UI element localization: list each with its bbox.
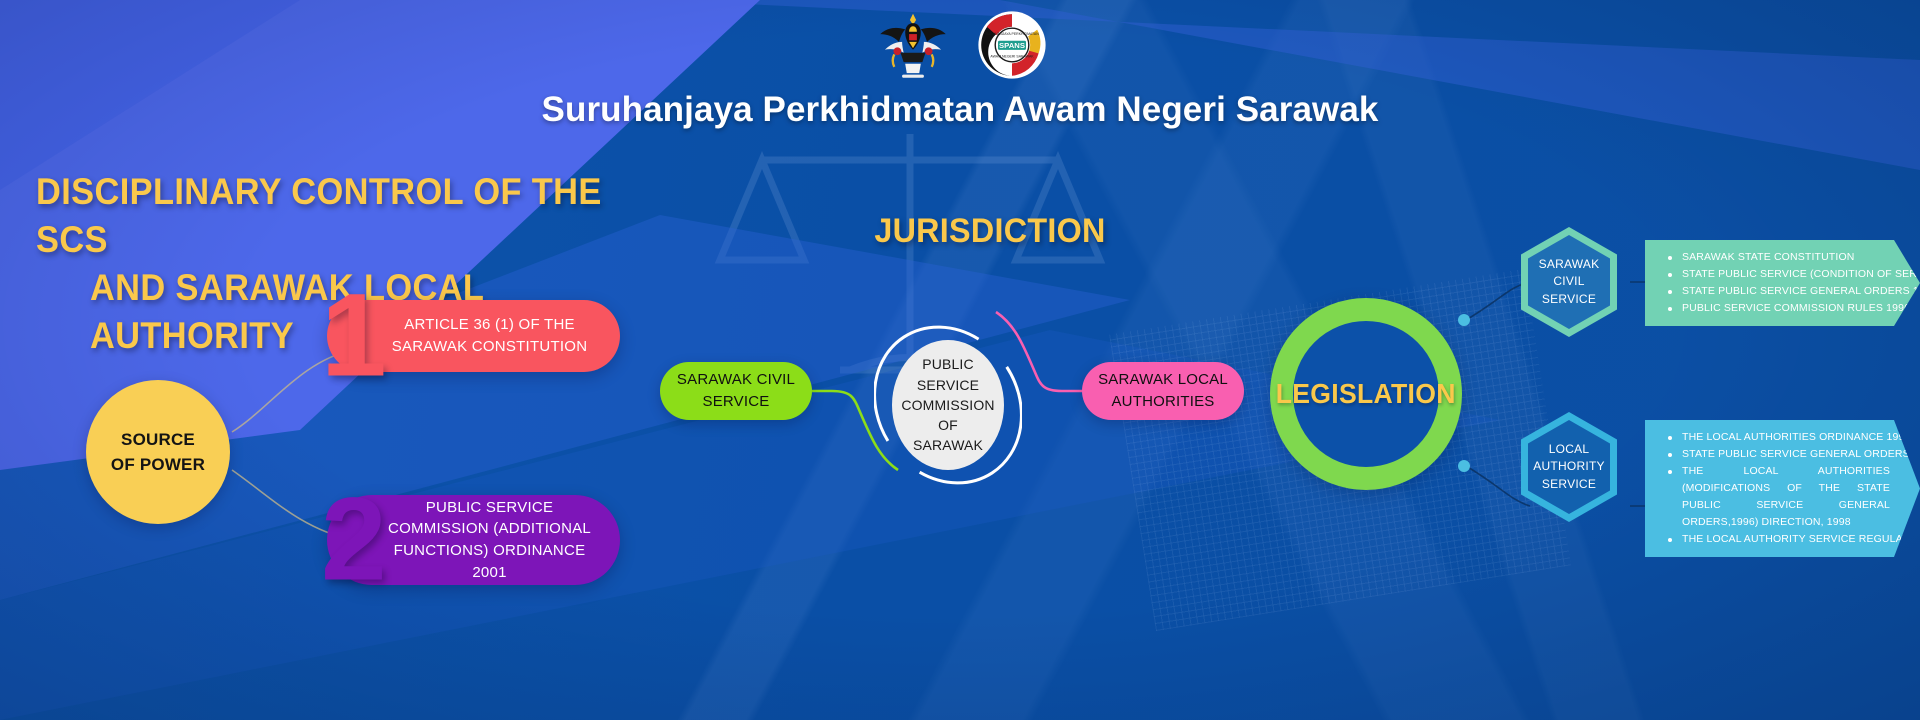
power-item-2-number: 2 (321, 492, 383, 589)
list-item: SARAWAK STATE CONSTITUTION (1667, 249, 1890, 266)
jurisdiction-node-civil-service[interactable]: SARAWAK CIVIL SERVICE (660, 362, 812, 420)
infographic-canvas: SPANS SURUHANJAYA PERKHIDMATAN AWAM NEGE… (0, 0, 1920, 720)
source-of-power-line1: SOURCE (121, 427, 195, 453)
section-heading-jurisdiction: JURISDICTION (848, 212, 1133, 251)
list-item: THE LOCAL AUTHORITY SERVICE REGULATIONS … (1667, 531, 1890, 548)
list-item: STATE PUBLIC SERVICE GENERAL ORDERS 1996 (1667, 446, 1890, 463)
page-header: SPANS SURUHANJAYA PERKHIDMATAN AWAM NEGE… (0, 0, 1920, 130)
legislation-list-local-authority: THE LOCAL AUTHORITIES ORDINANCE 1996 STA… (1645, 420, 1920, 557)
logo-group: SPANS SURUHANJAYA PERKHIDMATAN AWAM NEGE… (873, 6, 1047, 84)
list-item: PUBLIC SERVICE COMMISSION RULES 1996 (1667, 300, 1890, 317)
legislation-list-civil-service: SARAWAK STATE CONSTITUTION STATE PUBLIC … (1645, 240, 1920, 326)
core-label: PUBLIC SERVICE COMMISSION OF SARAWAK (892, 340, 1004, 470)
source-of-power-line2: OF POWER (111, 452, 205, 478)
local-authority-items: THE LOCAL AUTHORITIES ORDINANCE 1996 STA… (1667, 429, 1890, 548)
jurisdiction-node-civil-service-label: SARAWAK CIVIL SERVICE (660, 369, 812, 413)
power-item-1[interactable]: 1 ARTICLE 36 (1) OF THE SARAWAK CONSTITU… (327, 300, 620, 372)
jurisdiction-node-local-authorities-label: SARAWAK LOCAL AUTHORITIES (1082, 369, 1244, 413)
list-item: STATE PUBLIC SERVICE GENERAL ORDERS 1996 (1667, 283, 1890, 300)
legislation-node[interactable]: LEGISLATION (1270, 298, 1462, 490)
hex-local-authority-label: LOCAL AUTHORITY SERVICE (1528, 441, 1610, 492)
svg-text:SPANS: SPANS (999, 41, 1025, 50)
jurisdiction-node-local-authorities[interactable]: SARAWAK LOCAL AUTHORITIES (1082, 362, 1244, 420)
svg-text:SURUHANJAYA PERKHIDMATAN: SURUHANJAYA PERKHIDMATAN (985, 32, 1039, 36)
page-title: Suruhanjaya Perkhidmatan Awam Negeri Sar… (0, 90, 1920, 130)
hex-civil-service-label: SARAWAK CIVIL SERVICE (1528, 256, 1610, 307)
sarawak-coat-of-arms-icon (873, 6, 953, 84)
power-item-1-number: 1 (321, 288, 383, 385)
svg-text:AWAM NEGERI SARAWAK: AWAM NEGERI SARAWAK (990, 55, 1034, 59)
list-item: THE LOCAL AUTHORITIES (MODIFICATIONS OF … (1667, 463, 1890, 531)
source-of-power-node[interactable]: SOURCE OF POWER (86, 380, 230, 524)
spans-logo-icon: SPANS SURUHANJAYA PERKHIDMATAN AWAM NEGE… (977, 10, 1047, 80)
central-core-node[interactable]: PUBLIC SERVICE COMMISSION OF SARAWAK (874, 320, 1022, 490)
legislation-label: LEGISLATION (1276, 378, 1456, 410)
power-item-2[interactable]: 2 PUBLIC SERVICE COMMISSION (ADDITIONAL … (327, 495, 620, 585)
civil-service-items: SARAWAK STATE CONSTITUTION STATE PUBLIC … (1667, 249, 1890, 317)
list-item: THE LOCAL AUTHORITIES ORDINANCE 1996 (1667, 429, 1890, 446)
heading-line-1: DISCIPLINARY CONTROL OF THE SCS (36, 171, 602, 260)
list-item: STATE PUBLIC SERVICE (CONDITION OF SERVI… (1667, 266, 1890, 283)
